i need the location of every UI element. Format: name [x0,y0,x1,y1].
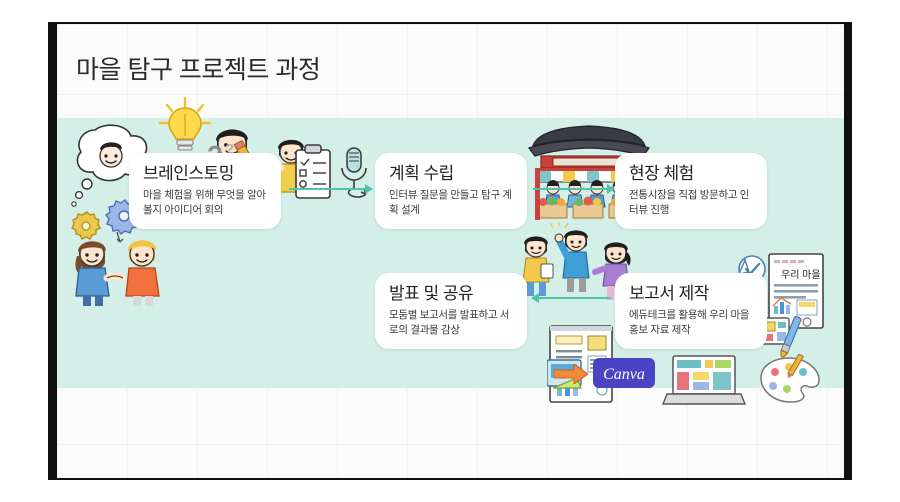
step-title-field: 현장 체험 [629,163,753,184]
slide-stage: 마을 탐구 프로젝트 과정 [0,0,900,502]
svg-text:Canva: Canva [603,366,645,383]
arrow-plan-to-field-head [607,184,615,194]
step-desc-plan: 인터뷰 질문을 만들고 탐구 계획 설계 [389,188,513,218]
step-title-brainstorm: 브레인스토밍 [143,163,267,184]
arrow-report-to-present-head [531,293,539,303]
arrow-brainstorm-to-plan-head [365,184,373,194]
step-desc-field: 전통시장을 직접 방문하고 인터뷰 진행 [629,188,753,218]
two-children-illustration [65,228,177,311]
edutech-tools-illustration: Canva [547,354,844,417]
step-title-plan: 계획 수립 [389,163,513,184]
step-card-present[interactable]: 발표 및 공유 모둠별 보고서를 발표하고 서로의 결과물 감상 [375,273,527,349]
step-title-report: 보고서 제작 [629,283,753,304]
step-card-report[interactable]: 보고서 제작 에듀테크를 활용해 우리 마을 홍보 자료 제작 [615,273,767,349]
step-desc-present: 모둠별 보고서를 발표하고 서로의 결과물 감상 [389,308,513,338]
arrow-report-to-present [535,297,611,299]
step-card-brainstorm[interactable]: 브레인스토밍 마을 체험을 위해 무엇을 알아볼지 아이디어 회의 [129,153,281,229]
arrow-brainstorm-to-plan [289,188,367,190]
clipboard-checklist-icon [292,142,384,213]
arrow-plan-to-field [533,188,609,190]
step-title-present: 발표 및 공유 [389,283,513,304]
orange-arrow-icon [554,364,588,384]
step-card-field[interactable]: 현장 체험 전통시장을 직접 방문하고 인터뷰 진행 [615,153,767,229]
step-desc-report: 에듀테크를 활용해 우리 마을 홍보 자료 제작 [629,308,753,338]
step-card-plan[interactable]: 계획 수립 인터뷰 질문을 만들고 탐구 계획 설계 [375,153,527,229]
canva-logo: Canva [593,358,655,388]
page-title: 마을 탐구 프로젝트 과정 [76,50,320,86]
slide-canvas: 마을 탐구 프로젝트 과정 [57,24,844,478]
document-title-text: 우리 마을 [781,269,821,281]
step-desc-brainstorm: 마을 체험을 위해 무엇을 알아볼지 아이디어 회의 [143,188,267,218]
